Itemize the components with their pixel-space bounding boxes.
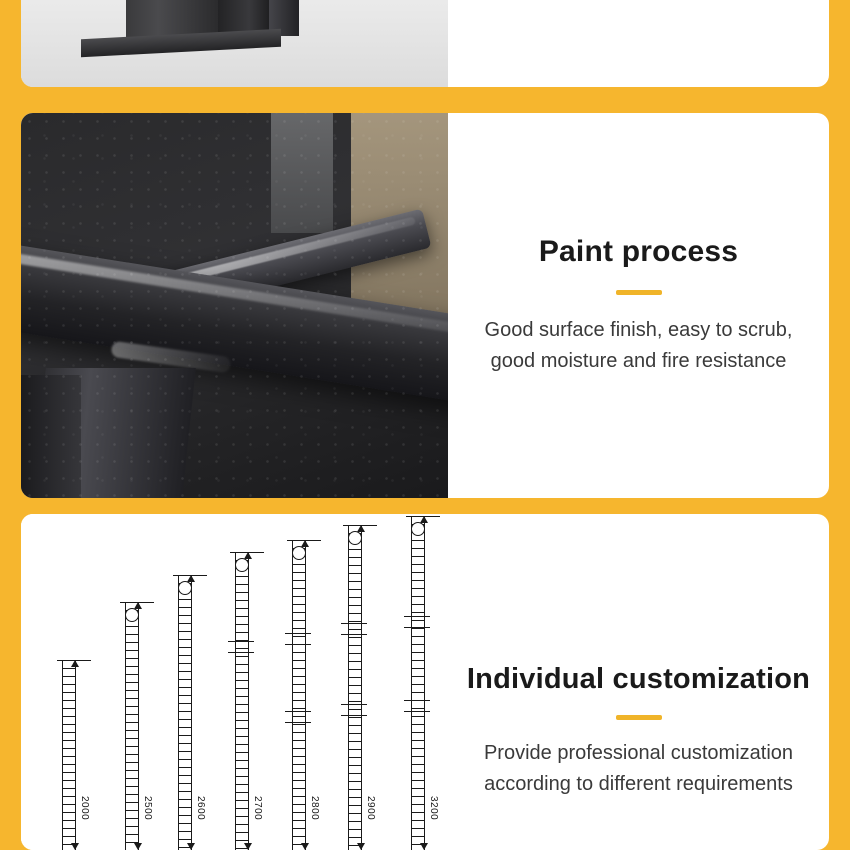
customization-text-block: Individual customization Provide profess…	[448, 514, 829, 850]
dimension-label: 3200	[428, 796, 439, 820]
dimension-arrow-bottom	[357, 843, 365, 850]
feature-card-top-partial	[21, 0, 829, 87]
dimension-column: 2700	[230, 552, 252, 850]
card-top-text	[448, 0, 829, 87]
bracket-knob	[348, 531, 362, 545]
title-divider	[616, 715, 662, 720]
cross-brace	[228, 641, 254, 653]
paint-texture-speckle	[21, 113, 448, 498]
painted-steel-frame-closeup-photo	[21, 113, 448, 498]
dimension-column: 2600	[173, 575, 195, 850]
dimension-arrow-top	[71, 660, 79, 667]
dimension-column: 2000	[57, 660, 79, 850]
cross-brace	[404, 700, 430, 712]
paint-process-description: Good surface finish, easy to scrub, good…	[462, 315, 815, 377]
perforated-column	[411, 516, 425, 850]
dimension-line	[424, 516, 425, 850]
cross-brace	[404, 616, 430, 628]
dimension-column: 3200	[406, 516, 428, 850]
cross-brace	[285, 633, 311, 645]
dimension-arrow-bottom	[420, 843, 428, 850]
dimension-line	[248, 552, 249, 850]
bracket-knob	[292, 546, 306, 560]
dimension-line	[305, 540, 306, 850]
stand-foot	[81, 29, 281, 57]
cross-brace	[341, 704, 367, 716]
dimension-arrow-bottom	[187, 843, 195, 850]
cross-brace	[285, 711, 311, 723]
feature-card-individual-customization: 2000250026002700280029003200 Individual …	[21, 514, 829, 850]
dimension-arrow-bottom	[301, 843, 309, 850]
paint-process-text-block: Paint process Good surface finish, easy …	[448, 113, 829, 498]
dimension-column: 2800	[287, 540, 309, 850]
perforated-column	[178, 575, 192, 850]
dimension-line	[361, 525, 362, 850]
cross-brace	[341, 623, 367, 635]
perforated-column	[292, 540, 306, 850]
paint-process-title: Paint process	[539, 235, 738, 268]
perforated-column	[125, 602, 139, 850]
dimension-drawing-canvas: 2000250026002700280029003200	[21, 514, 448, 850]
paint-closeup-illustration	[21, 113, 448, 498]
customization-description: Provide professional customization accor…	[462, 738, 815, 800]
dimension-arrow-bottom	[244, 843, 252, 850]
dimension-label: 2700	[252, 796, 263, 820]
bracket-knob	[235, 558, 249, 572]
dimension-label: 2500	[142, 796, 153, 820]
perforated-column	[235, 552, 249, 850]
bracket-knob	[411, 522, 425, 536]
dimension-arrow-bottom	[134, 843, 142, 850]
dark-steel-stand-photo	[21, 0, 448, 87]
dimension-label: 2000	[79, 796, 90, 820]
dimension-line	[138, 602, 139, 850]
dimension-column: 2500	[120, 602, 142, 850]
feature-card-paint-process: Paint process Good surface finish, easy …	[21, 113, 829, 498]
customization-title: Individual customization	[467, 664, 810, 696]
height-dimension-drawing: 2000250026002700280029003200	[21, 514, 448, 850]
dimension-line	[191, 575, 192, 850]
title-divider	[616, 290, 662, 295]
product-feature-page: Paint process Good surface finish, easy …	[0, 0, 850, 850]
perforated-column	[348, 525, 362, 850]
dimension-line	[75, 660, 76, 850]
perforated-column	[62, 660, 76, 850]
dimension-label: 2800	[309, 796, 320, 820]
dimension-label: 2600	[195, 796, 206, 820]
dimension-arrow-bottom	[71, 843, 79, 850]
bracket-knob	[125, 608, 139, 622]
dimension-column: 2900	[343, 525, 365, 850]
photo-stand-illustration	[21, 0, 448, 87]
bracket-knob	[178, 581, 192, 595]
dimension-label: 2900	[365, 796, 376, 820]
